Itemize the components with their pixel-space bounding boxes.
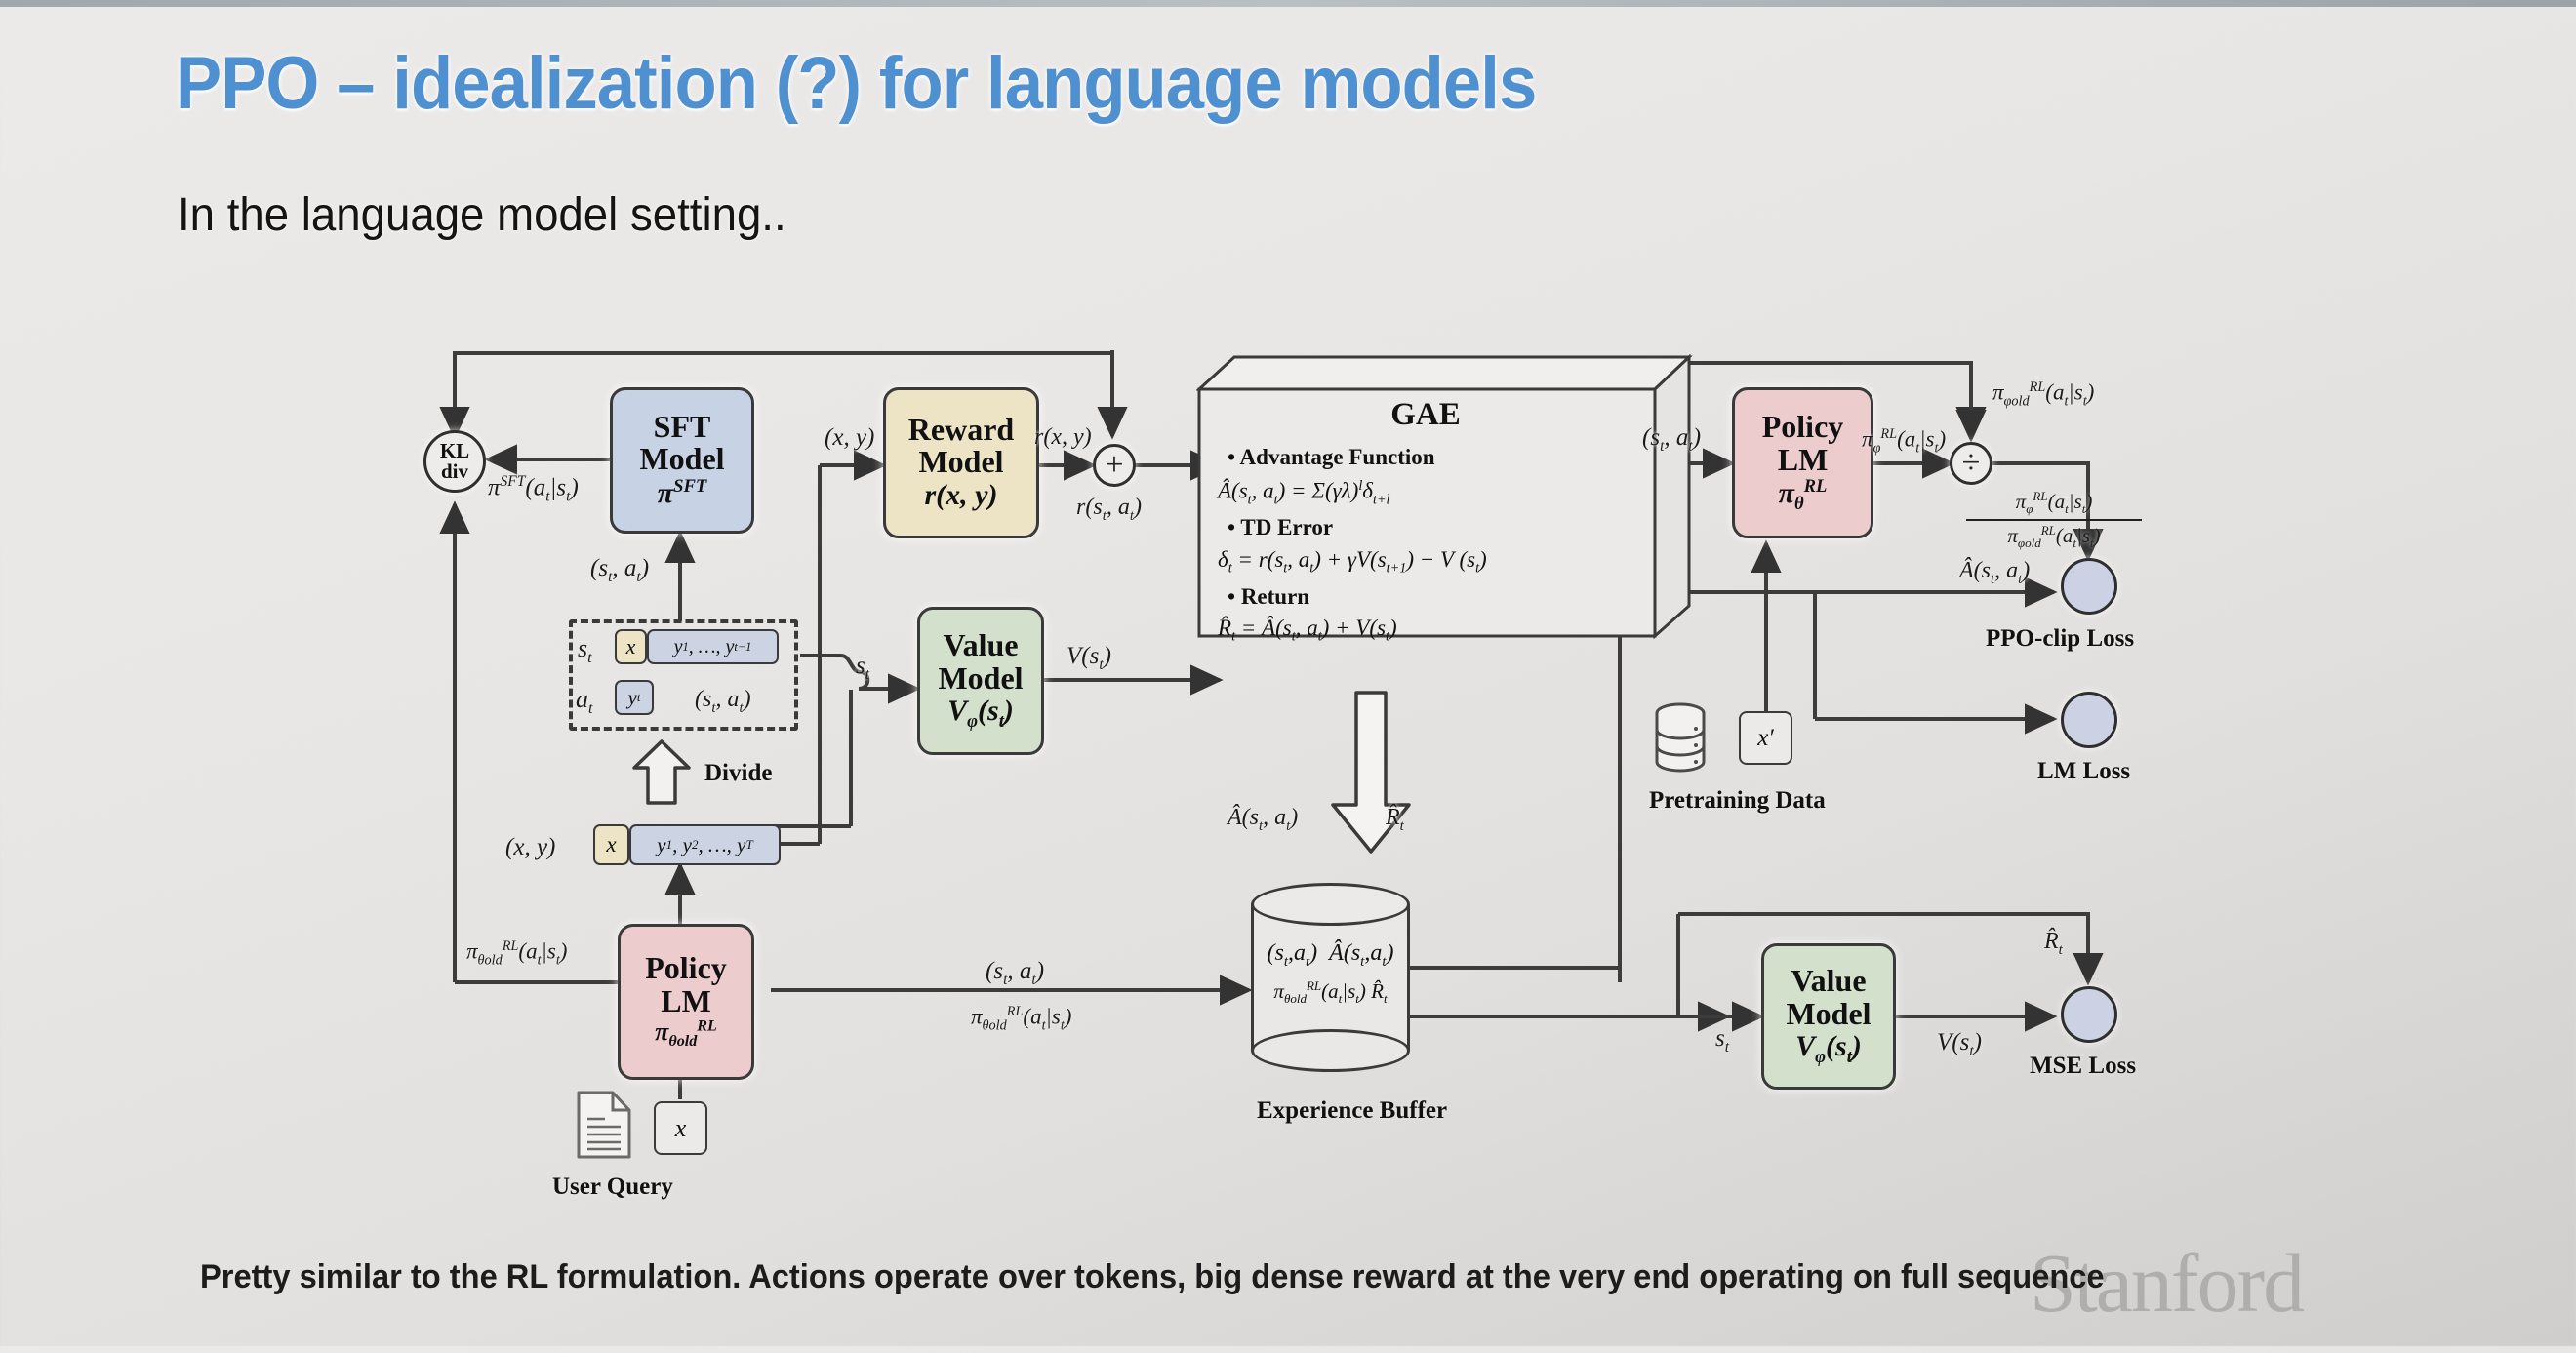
slide-canvas: PPO – idealization (?) for language mode…	[0, 7, 2576, 1346]
state-x-token: x	[615, 629, 647, 664]
full-y-token: y1, y2, …, yT	[629, 824, 781, 865]
value-model-top-function: Vφ(st)	[947, 695, 1014, 732]
ppo-architecture-diagram: KL div πSFT(at|st) SFT Model πSFT (st, a…	[0, 7, 2576, 1353]
policy-lm-bottom-symbol: πθoldRL	[655, 1017, 717, 1052]
edge-label-adv-to-ppo: Â(st, at)	[1959, 558, 2030, 588]
reward-model-function: r(x, y)	[924, 479, 997, 513]
mse-loss-circle	[2061, 986, 2117, 1043]
edge-label-pair-to-reward: (x, y)	[825, 424, 874, 452]
gae-box: GAE • Advantage Function Â(st, at) = Σ(γ…	[1196, 354, 1694, 639]
node-value-model-bottom[interactable]: Value Model Vφ(st)	[1761, 943, 1896, 1090]
experience-buffer-caption: Experience Buffer	[1257, 1097, 1447, 1125]
policy-lm-bottom-line1: Policy	[645, 952, 727, 985]
ppo-clip-loss-circle	[2061, 558, 2117, 615]
node-sft-model[interactable]: SFT Model πSFT	[610, 387, 754, 534]
edge-label-phi-old: πφoldRL(at|st)	[1992, 379, 2094, 410]
edge-label-policy-prob: πφRL(at|st)	[1862, 426, 1946, 457]
sft-model-line2: Model	[639, 443, 724, 476]
value-model-bottom-line2: Model	[1786, 998, 1871, 1031]
sft-model-policy-symbol: πSFT	[658, 476, 707, 511]
gae-equation-3: R̂t = Â(st, at) + V(st)	[1218, 616, 1397, 646]
gae-equation-1: Â(st, at) = Σ(γλ)lδt+l	[1218, 478, 1390, 508]
edge-label-buffer-to-policy: (st, at)	[1642, 424, 1701, 456]
full-sequence-token-row: x y1, y2, …, yT	[593, 824, 781, 865]
diagram-connectors	[0, 7, 2576, 1353]
policy-lm-top-line1: Policy	[1762, 411, 1844, 444]
buffer-row-2: πθoldRL(at|st) R̂t	[1251, 975, 1410, 1010]
state-y-token: y1, …, yt−1	[647, 629, 779, 664]
buffer-top-ellipse	[1251, 883, 1410, 926]
gae-bullet-2: • TD Error	[1228, 515, 1333, 540]
full-sequence-tag: (x, y)	[505, 834, 555, 861]
action-tag: at	[576, 685, 592, 718]
gae-title: GAE	[1196, 397, 1655, 433]
gae-bullet-3: • Return	[1228, 584, 1309, 610]
edge-label-bottom-prob: πθoldRL(at|st)	[971, 1004, 1071, 1034]
value-model-bottom-line1: Value	[1791, 965, 1866, 998]
full-x-token: x	[593, 824, 629, 865]
x-token-box: x	[654, 1101, 707, 1155]
state-tag: st	[578, 634, 592, 667]
user-query-label: User Query	[552, 1174, 673, 1201]
buffer-bottom-ellipse	[1251, 1029, 1410, 1072]
edge-label-sum-out: r(st, at)	[1076, 495, 1142, 525]
node-policy-lm-bottom[interactable]: Policy LM πθoldRL	[618, 924, 754, 1080]
policy-lm-top-line2: LM	[1778, 444, 1829, 477]
edge-label-tokens-to-sft: (st, at)	[590, 555, 649, 586]
reward-model-line2: Model	[918, 446, 1003, 479]
policy-lm-top-symbol: πθRL	[1779, 476, 1828, 514]
kl-div-line2: div	[441, 459, 468, 483]
ratio-division-circle: ÷	[1950, 442, 1992, 485]
document-icon	[576, 1090, 632, 1160]
edge-label-gae-return: R̂t	[1386, 805, 1404, 835]
slide-caption: Pretty similar to the RL formulation. Ac…	[200, 1258, 2105, 1296]
edge-label-bottom-pair: (st, at)	[986, 958, 1044, 989]
value-model-bottom-function: Vφ(st)	[1795, 1030, 1862, 1067]
x-prime-token-box: x′	[1739, 711, 1792, 765]
edge-label-sft-to-kl: πSFT(at|st)	[488, 473, 579, 505]
kl-div-circle: KL div	[423, 430, 486, 493]
action-y-token: yt	[615, 680, 654, 715]
policy-lm-bottom-line2: LM	[661, 985, 711, 1018]
lm-loss-circle	[2061, 692, 2117, 748]
buffer-row-1: (st,at) Â(st,at)	[1251, 934, 1410, 975]
sft-model-line1: SFT	[654, 411, 711, 444]
ratio-denominator: πφoldRL(at|st)	[1966, 523, 2142, 551]
experience-buffer-cylinder: (st,at) Â(st,at) πθoldRL(at|st) R̂t	[1251, 883, 1410, 1074]
ppo-clip-loss-label: PPO-clip Loss	[1986, 625, 2134, 653]
edge-label-return-to-mse: R̂t	[2044, 929, 2063, 959]
edge-label-reward-out: r(x, y)	[1034, 424, 1092, 451]
ppo-ratio-fraction: πφRL(at|st) πφoldRL(at|st)	[1966, 489, 2142, 552]
ratio-numerator: πφRL(at|st)	[1966, 489, 2142, 517]
node-value-model-top[interactable]: Value Model Vφ(st)	[917, 607, 1044, 755]
node-reward-model[interactable]: Reward Model r(x, y)	[883, 387, 1039, 538]
plus-icon: +	[1105, 449, 1123, 482]
buffer-contents: (st,at) Â(st,at) πθoldRL(at|st) R̂t	[1251, 934, 1410, 1010]
edge-label-buffer-to-value-bottom: st	[1715, 1025, 1729, 1056]
gae-equation-2: δt = r(st, at) + γV(st+1) − V (st)	[1218, 547, 1487, 577]
value-model-top-line2: Model	[938, 662, 1023, 696]
node-policy-lm-top[interactable]: Policy LM πθRL	[1732, 387, 1873, 538]
reward-model-line1: Reward	[908, 414, 1014, 447]
state-action-pair-label: (st, at)	[695, 687, 751, 717]
top-edge-bar	[0, 0, 2576, 7]
action-token-row: yt	[615, 680, 654, 715]
fraction-bar	[1966, 519, 2142, 521]
edge-label-state-to-value: st	[856, 653, 869, 684]
mse-loss-label: MSE Loss	[2030, 1053, 2136, 1080]
divide-block-arrow	[630, 738, 693, 807]
pretraining-data-label: Pretraining Data	[1649, 787, 1826, 815]
gae-bullet-1: • Advantage Function	[1228, 445, 1435, 470]
divide-label: Divide	[704, 760, 772, 787]
edge-label-value-out: V(st)	[1067, 643, 1111, 674]
database-icon	[1653, 701, 1708, 774]
value-model-top-line1: Value	[943, 629, 1018, 662]
edge-label-gae-advantage: Â(st, at)	[1228, 805, 1298, 835]
reward-sum-circle: +	[1093, 444, 1136, 487]
divide-icon: ÷	[1962, 447, 1981, 480]
edge-label-policy-old-prob: πθoldRL(at|st)	[466, 938, 567, 969]
lm-loss-label: LM Loss	[2037, 758, 2130, 785]
edge-label-value-bottom-out: V(st)	[1937, 1029, 1982, 1060]
state-token-row: x y1, …, yt−1	[615, 629, 779, 664]
